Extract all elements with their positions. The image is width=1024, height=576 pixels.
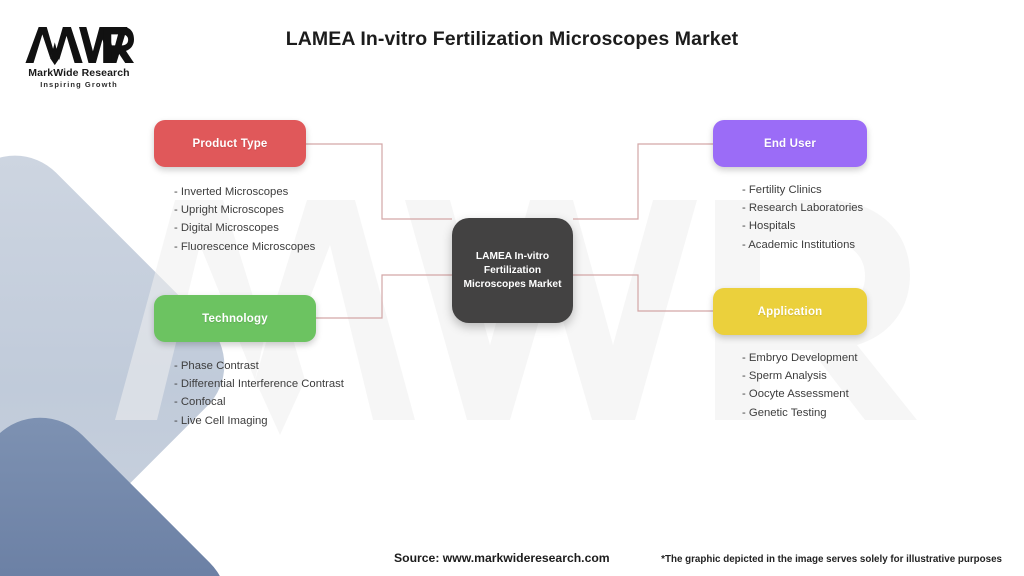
- list-item: - Upright Microscopes: [174, 201, 454, 219]
- list-item: - Fluorescence Microscopes: [174, 238, 454, 256]
- disclaimer-label: *The graphic depicted in the image serve…: [661, 554, 1002, 565]
- list-item: - Embryo Development: [742, 349, 1013, 367]
- list-item: - Hospitals: [742, 217, 1013, 235]
- list-item: - Digital Microscopes: [174, 219, 454, 237]
- list-item: - Live Cell Imaging: [174, 412, 484, 430]
- branch-pill-product-type[interactable]: Product Type: [154, 120, 306, 167]
- connector-application: [573, 275, 713, 311]
- branch-label-end-user: End User: [764, 138, 816, 150]
- branch-technology: Technology - Phase Contrast - Differenti…: [154, 295, 484, 430]
- list-item: - Differential Interference Contrast: [174, 375, 484, 393]
- list-item: - Confocal: [174, 393, 484, 411]
- source-label: Source: www.markwideresearch.com: [394, 551, 610, 565]
- branch-label-technology: Technology: [202, 313, 268, 325]
- branch-label-product-type: Product Type: [192, 138, 267, 150]
- branch-list-application: - Embryo Development - Sperm Analysis - …: [713, 349, 1013, 422]
- list-item: - Phase Contrast: [174, 357, 484, 375]
- list-item: - Genetic Testing: [742, 404, 1013, 422]
- list-item: - Academic Institutions: [742, 236, 1013, 254]
- footer: Source: www.markwideresearch.com *The gr…: [0, 526, 1024, 576]
- connector-end-user: [573, 144, 713, 219]
- branch-list-technology: - Phase Contrast - Differential Interfer…: [154, 357, 484, 430]
- branch-pill-end-user[interactable]: End User: [713, 120, 867, 167]
- list-item: - Oocyte Assessment: [742, 385, 1013, 403]
- logo-company-name: MarkWide Research: [14, 67, 144, 79]
- list-item: - Inverted Microscopes: [174, 183, 454, 201]
- branch-pill-technology[interactable]: Technology: [154, 295, 316, 342]
- branch-list-product-type: - Inverted Microscopes - Upright Microsc…: [154, 183, 454, 256]
- logo-tagline: Inspiring Growth: [14, 80, 144, 89]
- branch-end-user: End User - Fertility Clinics - Research …: [713, 120, 1013, 254]
- branch-product-type: Product Type - Inverted Microscopes - Up…: [154, 120, 454, 256]
- branch-list-end-user: - Fertility Clinics - Research Laborator…: [713, 181, 1013, 254]
- center-hub-label: LAMEA In-vitro Fertilization Microscopes…: [452, 250, 573, 292]
- branch-pill-application[interactable]: Application: [713, 288, 867, 335]
- list-item: - Fertility Clinics: [742, 181, 1013, 199]
- list-item: - Research Laboratories: [742, 199, 1013, 217]
- page-title: LAMEA In-vitro Fertilization Microscopes…: [0, 28, 1024, 51]
- header: MarkWide Research Inspiring Growth LAMEA…: [0, 0, 1024, 100]
- list-item: - Sperm Analysis: [742, 367, 1013, 385]
- branch-application: Application - Embryo Development - Sperm…: [713, 288, 1013, 422]
- branch-label-application: Application: [758, 306, 823, 318]
